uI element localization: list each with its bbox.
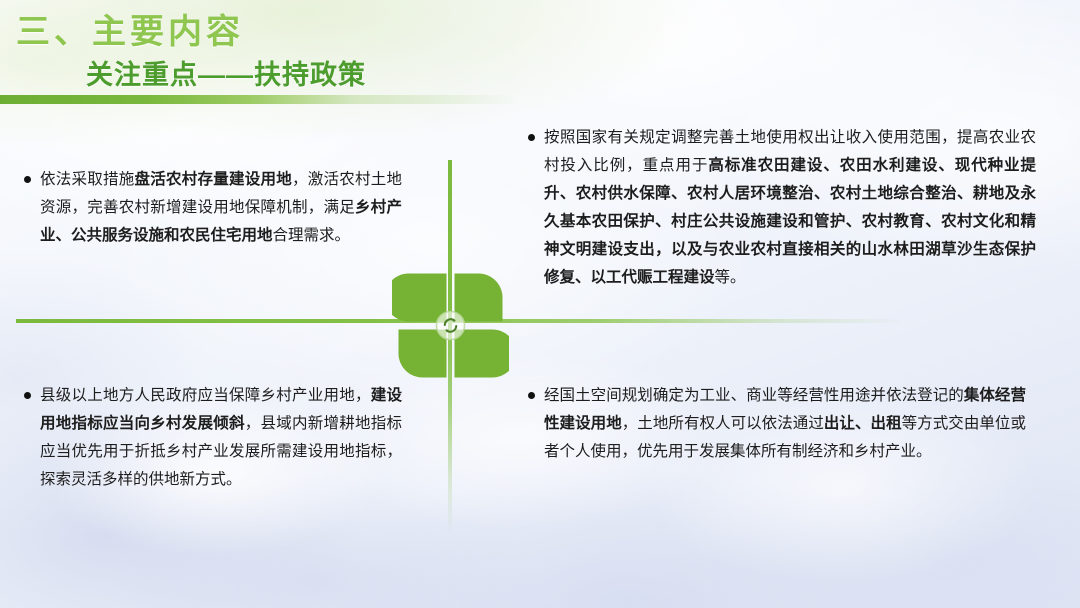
content-block-bottom-left: 县级以上地方人民政府应当保障乡村产业用地，建设用地指标应当向乡村发展倾斜，县域内… — [24, 382, 402, 494]
content-block-top-right: 按照国家有关规定调整完善土地使用权出让收入使用范围，提高农业农村投入比例，重点用… — [528, 124, 1036, 292]
slide-canvas: 三、主要内容 关注重点——扶持政策 — [0, 0, 1080, 608]
content-block-bottom-right: 经国土空间规划确定为工业、商业等经营性用途并依法登记的集体经营性建设用地，土地所… — [528, 382, 1026, 466]
slide-header: 三、主要内容 关注重点——扶持政策 — [0, 0, 1080, 105]
paragraph-text: 按照国家有关规定调整完善土地使用权出让收入使用范围，提高农业农村投入比例，重点用… — [528, 124, 1036, 292]
page-title: 三、主要内容 — [16, 4, 244, 53]
header-underline-bar — [0, 95, 520, 104]
bullet-marker — [24, 392, 31, 399]
paragraph-text: 依法采取措施盘活农村存量建设用地，激活农村土地资源，完善农村新增建设用地保障机制… — [24, 166, 402, 250]
bullet-paragraph: 依法采取措施盘活农村存量建设用地，激活农村土地资源，完善农村新增建设用地保障机制… — [24, 166, 402, 250]
bullet-marker — [528, 134, 535, 141]
paragraph-text: 县级以上地方人民政府应当保障乡村产业用地，建设用地指标应当向乡村发展倾斜，县域内… — [24, 382, 402, 494]
four-leaf-clover-icon — [392, 267, 509, 384]
bullet-marker — [528, 392, 535, 399]
bullet-marker — [24, 176, 31, 183]
paragraph-text: 经国土空间规划确定为工业、商业等经营性用途并依法登记的集体经营性建设用地，土地所… — [528, 382, 1026, 466]
bullet-paragraph: 县级以上地方人民政府应当保障乡村产业用地，建设用地指标应当向乡村发展倾斜，县域内… — [24, 382, 402, 494]
content-block-top-left: 依法采取措施盘活农村存量建设用地，激活农村土地资源，完善农村新增建设用地保障机制… — [24, 166, 402, 250]
bullet-paragraph: 按照国家有关规定调整完善土地使用权出让收入使用范围，提高农业农村投入比例，重点用… — [528, 124, 1036, 292]
bullet-paragraph: 经国土空间规划确定为工业、商业等经营性用途并依法登记的集体经营性建设用地，土地所… — [528, 382, 1026, 466]
page-subtitle: 关注重点——扶持政策 — [86, 53, 366, 92]
